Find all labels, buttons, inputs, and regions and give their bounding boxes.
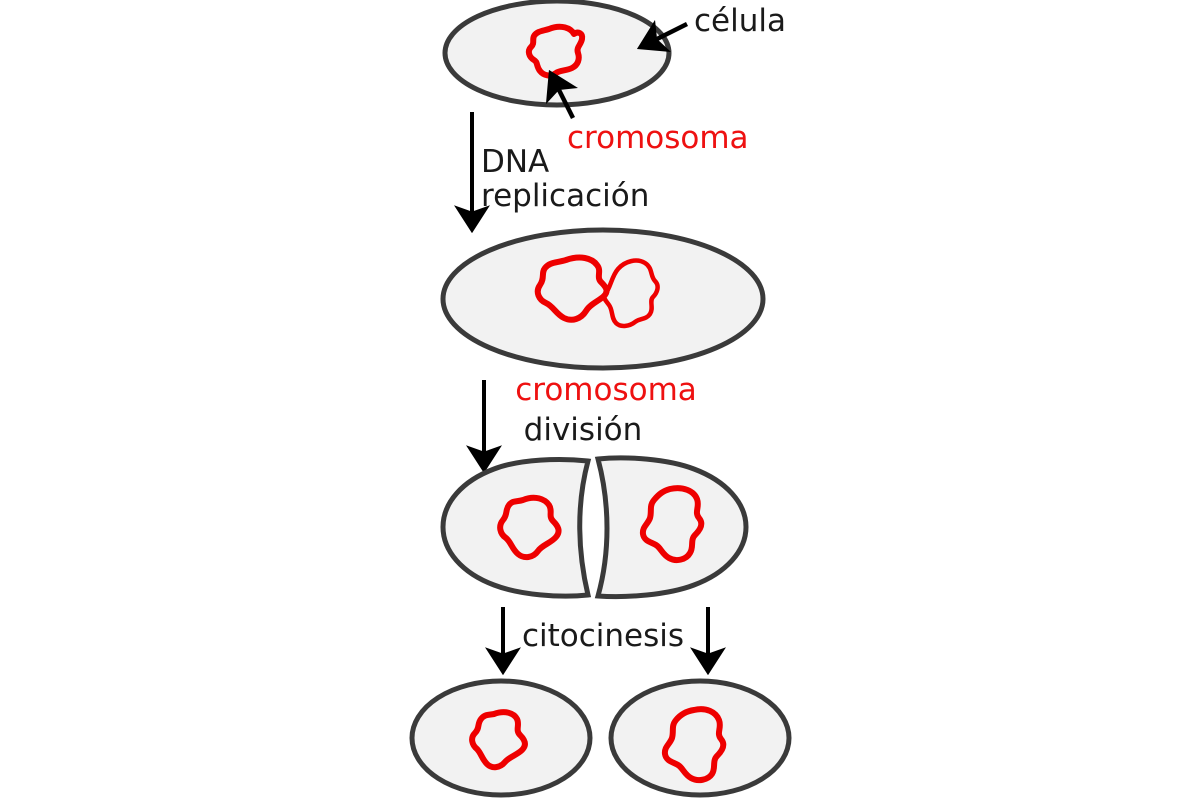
stage-replicated-cell — [443, 230, 763, 368]
callout-chromosome-label: cromosoma — [567, 120, 749, 156]
step-chromosome-division: cromosoma división — [484, 372, 697, 458]
callout-cell-label: célula — [694, 3, 786, 39]
replication-label-line2: replicación — [481, 178, 649, 214]
cell-outline-daughter-left — [412, 681, 590, 795]
stage-daughter-cells — [412, 681, 789, 795]
division-label-line1: cromosoma — [515, 372, 697, 408]
callout-cell: célula — [651, 3, 786, 42]
diagram-canvas: célula cromosoma DNA replicación cromoso… — [0, 0, 1200, 800]
division-label-line2: división — [524, 412, 643, 448]
cytokinesis-label: citocinesis — [522, 618, 684, 654]
stage-dividing-cell — [443, 458, 746, 597]
step-cytokinesis: citocinesis — [503, 607, 708, 660]
cell-outline-dividing-left — [443, 460, 588, 597]
cell-outline-dividing-right — [598, 458, 746, 597]
binary-fission-diagram: célula cromosoma DNA replicación cromoso… — [0, 0, 1200, 800]
replication-label-line1: DNA — [481, 144, 549, 180]
